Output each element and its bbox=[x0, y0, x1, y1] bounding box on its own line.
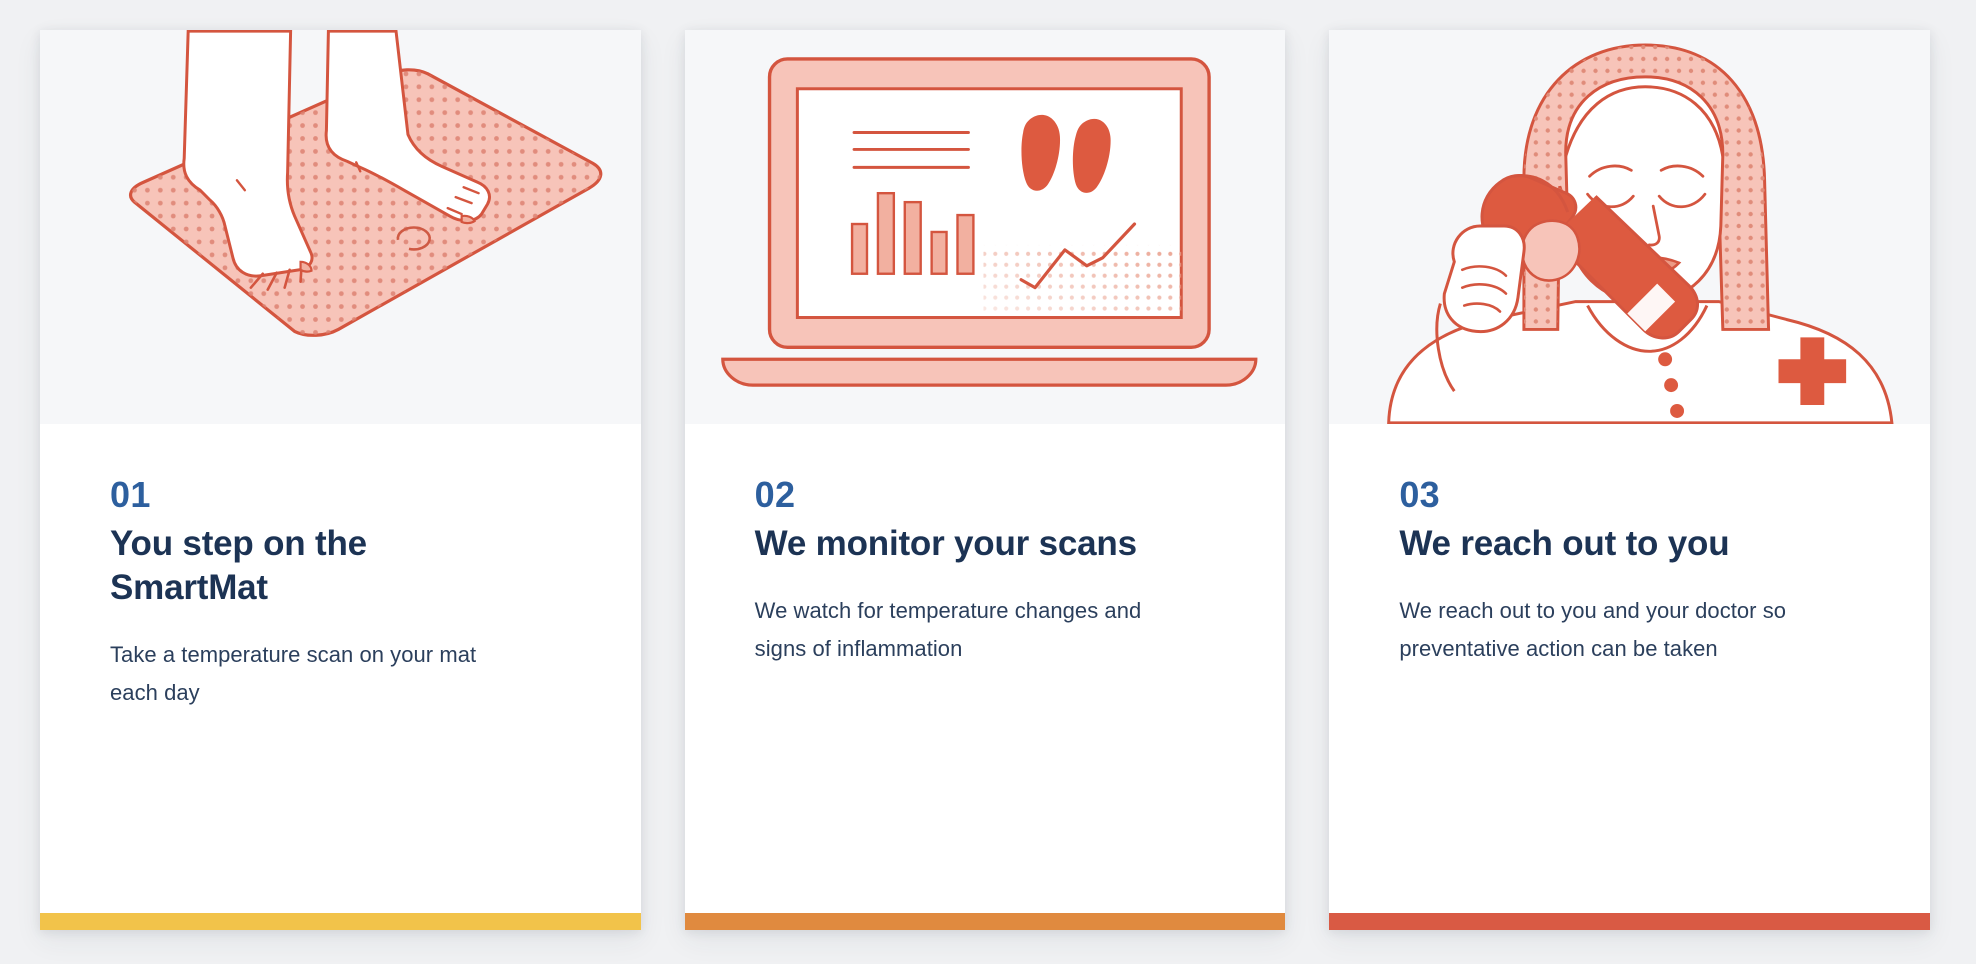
card-body-03: 03 We reach out to you We reach out to y… bbox=[1329, 424, 1930, 930]
step-number: 03 bbox=[1399, 476, 1872, 514]
card-body-02: 02 We monitor your scans We watch for te… bbox=[685, 424, 1286, 930]
step-card-02[interactable]: 02 We monitor your scans We watch for te… bbox=[685, 30, 1286, 930]
step-card-01[interactable]: 01 You step on the SmartMat Take a tempe… bbox=[40, 30, 641, 930]
accent-bar-yellow bbox=[40, 913, 641, 930]
step-description: We reach out to you and your doctor so p… bbox=[1399, 592, 1819, 668]
accent-bar-red bbox=[1329, 913, 1930, 930]
laptop-base bbox=[722, 359, 1255, 385]
bar-4 bbox=[931, 232, 946, 274]
step-description: Take a temperature scan on your mat each… bbox=[110, 636, 530, 712]
nurse-on-phone-illustration bbox=[1329, 30, 1930, 424]
step-title: We reach out to you bbox=[1399, 522, 1799, 566]
handset-earpad bbox=[1522, 221, 1580, 281]
nurse-hand bbox=[1444, 226, 1524, 332]
step-number: 01 bbox=[110, 476, 583, 514]
step-number: 02 bbox=[755, 476, 1228, 514]
bar-5 bbox=[957, 215, 973, 274]
step-title: We monitor your scans bbox=[755, 522, 1155, 566]
feet-on-smartmat-illustration bbox=[40, 30, 641, 424]
bar-2 bbox=[878, 193, 894, 274]
card-media-laptop bbox=[685, 30, 1286, 424]
card-media-smartmat bbox=[40, 30, 641, 424]
bar-3 bbox=[904, 202, 920, 274]
card-media-nurse bbox=[1329, 30, 1930, 424]
step-card-03[interactable]: 03 We reach out to you We reach out to y… bbox=[1329, 30, 1930, 930]
step-description: We watch for temperature changes and sig… bbox=[755, 592, 1175, 668]
step-title: You step on the SmartMat bbox=[110, 522, 510, 610]
laptop-dashboard-illustration bbox=[685, 30, 1286, 424]
accent-bar-orange bbox=[685, 913, 1286, 930]
steps-card-row: 01 You step on the SmartMat Take a tempe… bbox=[40, 30, 1930, 930]
bar-1 bbox=[852, 224, 867, 274]
card-body-01: 01 You step on the SmartMat Take a tempe… bbox=[40, 424, 641, 930]
